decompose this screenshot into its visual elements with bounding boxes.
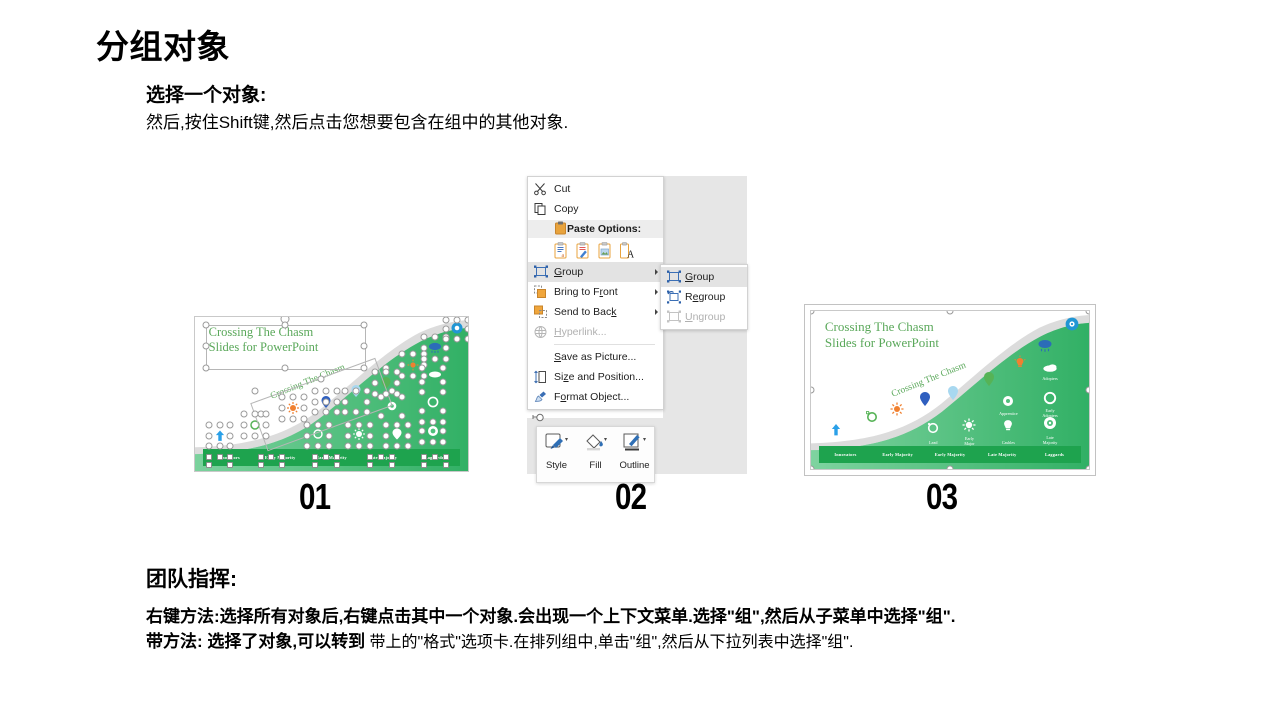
- gear-ring-white-icon: [1044, 391, 1057, 404]
- target-gear-white-icon: [427, 425, 438, 436]
- send-to-back-icon: [533, 305, 548, 320]
- outline-pen-icon: [622, 432, 648, 459]
- bulb-green-icon: [984, 372, 994, 386]
- paste-keep-source-formatting-button[interactable]: a: [553, 242, 568, 259]
- arrow-up-icon: [832, 424, 841, 436]
- context-menu[interactable]: Cut Copy Paste Options: a: [527, 176, 664, 410]
- menu-item-size-and-position[interactable]: Size and Position...: [528, 367, 663, 387]
- mini-toolbar-label: Style: [546, 460, 567, 471]
- step-number-01: 01: [299, 476, 330, 518]
- cloud-white-icon: [1043, 364, 1058, 372]
- icon-label: Early Adopters: [1042, 409, 1057, 419]
- section-body-team: 右键方法:选择所有对象后,右键点击其中一个对象.会出现一个上下文菜单.选择"组"…: [146, 604, 1106, 655]
- hyperlink-icon: [533, 325, 548, 340]
- submenu-item-label: Group: [685, 271, 714, 283]
- group-icon: [666, 270, 681, 285]
- step-2-screenshot: Cut Copy Paste Options: a: [527, 176, 747, 474]
- band-label: Early Majority: [924, 452, 976, 457]
- icon-label: Early Major: [964, 437, 974, 447]
- selection-box: [206, 325, 366, 370]
- shape-style-icon: [544, 432, 570, 459]
- icon-label: Late Majority: [1043, 436, 1058, 446]
- menu-item-group[interactable]: Group: [528, 262, 663, 282]
- step-1-thumbnail[interactable]: Crossing The Chasm Slides for PowerPoint…: [194, 316, 469, 472]
- step-number-03: 03: [926, 476, 957, 518]
- pin-navy-icon: [920, 392, 930, 406]
- sun-white-icon: [963, 418, 976, 431]
- band-label: Innovators: [819, 452, 871, 457]
- svg-text:A: A: [627, 249, 634, 259]
- menu-item-label: Copy: [554, 203, 579, 215]
- cyan-gear-icon: [1065, 317, 1079, 331]
- menu-item-label: Hyperlink...: [554, 326, 607, 338]
- menu-item-cut[interactable]: Cut: [528, 179, 663, 199]
- clipboard-icon: [554, 221, 567, 238]
- selection-handle[interactable]: [947, 466, 954, 471]
- menu-item-label: Size and Position...: [554, 371, 644, 383]
- step-number-02: 02: [615, 476, 646, 518]
- format-object-icon: [533, 390, 548, 405]
- menu-item-hyperlink: Hyperlink...: [528, 322, 663, 342]
- submenu-item-label: Ungroup: [685, 311, 725, 323]
- selection-handle[interactable]: [810, 466, 815, 471]
- menu-item-label: Save as Picture...: [554, 351, 636, 363]
- icon-label: Adopters: [1042, 377, 1057, 382]
- gear-green-icon: [866, 411, 878, 423]
- menu-item-save-as-picture[interactable]: Save as Picture...: [528, 347, 663, 367]
- mini-toolbar-fill-button[interactable]: Fill: [576, 432, 615, 471]
- selection-handle[interactable]: [1086, 310, 1091, 315]
- team-line-1: 右键方法:选择所有对象后,右键点击其中一个对象.会出现一个上下文菜单.选择"组"…: [146, 607, 956, 626]
- group-submenu[interactable]: Group Regroup Ungroup: [660, 264, 748, 330]
- mini-toolbar-label: Outline: [619, 460, 649, 471]
- stage-band: Innovators Early Majority Early Majority…: [819, 446, 1080, 463]
- arrow-up-icon: [215, 430, 224, 441]
- menu-item-send-to-back[interactable]: Send to Back: [528, 302, 663, 322]
- target-white-icon: [928, 422, 939, 433]
- deck-title-line2: Slides for PowerPoint: [825, 335, 939, 351]
- paste-options-label: Paste Options:: [567, 223, 641, 235]
- icon-label: Cashles: [1002, 441, 1015, 446]
- sun-icon-white: [353, 428, 365, 440]
- menu-item-format-object[interactable]: Format Object...: [528, 387, 663, 407]
- page-title: 分组对象: [96, 20, 230, 68]
- section-heading-select-object: 选择一个对象:: [146, 80, 266, 107]
- slide-preview-ungrouped: Crossing The Chasm Slides for PowerPoint…: [194, 316, 469, 472]
- cloud-rain-icon: [1037, 339, 1052, 352]
- bulb-icon-white: [393, 429, 402, 440]
- paste-use-destination-theme-button[interactable]: [575, 242, 590, 259]
- gear-white-icon: [1002, 395, 1014, 407]
- mini-toolbar-label: Fill: [589, 460, 601, 471]
- scissors-icon: [533, 182, 548, 197]
- section-heading-team: 团队指挥:: [146, 563, 237, 593]
- sun-orange-icon: [891, 402, 904, 415]
- chevron-right-icon: [655, 269, 658, 275]
- step-3-thumbnail[interactable]: Crossing The Chasm Slides for PowerPoint…: [810, 310, 1090, 470]
- regroup-icon: [666, 290, 681, 305]
- menu-item-copy[interactable]: Copy: [528, 199, 663, 219]
- selection-handle[interactable]: [1086, 387, 1091, 394]
- team-line-2-bold: 带方法: 选择了对象,可以转到: [146, 632, 365, 651]
- cloud-white-icon: [429, 370, 442, 377]
- deck-title: Crossing The Chasm Slides for PowerPoint: [825, 319, 939, 351]
- submenu-item-group[interactable]: Group: [661, 267, 747, 287]
- gear-ring-white-icon: [427, 396, 439, 408]
- submenu-item-label: Regroup: [685, 291, 725, 303]
- paste-keep-text-only-button[interactable]: A: [619, 242, 634, 259]
- mini-toolbar-style-button[interactable]: Style: [537, 432, 576, 471]
- bulb-orange-icon: [1014, 355, 1026, 368]
- chevron-right-icon: [655, 309, 658, 315]
- chevron-right-icon: [655, 289, 658, 295]
- slide-preview-grouped: Crossing The Chasm Slides for PowerPoint…: [810, 310, 1090, 470]
- menu-item-label: Send to Back: [554, 306, 616, 318]
- ungroup-icon: [666, 310, 681, 325]
- icon-label: Lead: [929, 441, 937, 446]
- menu-item-label: Group: [554, 266, 583, 278]
- mini-toolbar-outline-button[interactable]: Outline: [615, 432, 654, 471]
- size-position-icon: [533, 370, 548, 385]
- copy-icon: [533, 202, 548, 217]
- paste-options-header: Paste Options:: [528, 220, 663, 238]
- menu-item-bring-to-front[interactable]: Bring to Front: [528, 282, 663, 302]
- section-body-select-object: 然后,按住Shift键,然后点击您想要包含在组中的其他对象.: [146, 108, 568, 133]
- mini-toolbar[interactable]: Style Fill Outline: [536, 426, 655, 483]
- bulb-white-icon: [1003, 420, 1014, 433]
- rotate-handle-icon[interactable]: [532, 412, 550, 424]
- cloud-rain-icon: [429, 342, 442, 353]
- band-label: Early Majority: [872, 452, 924, 457]
- fill-bucket-icon: [583, 432, 609, 459]
- submenu-item-ungroup: Ungroup: [661, 307, 747, 327]
- paste-picture-button[interactable]: [597, 242, 612, 259]
- target-gear-white-icon: [1044, 417, 1057, 430]
- bring-to-front-icon: [533, 285, 548, 300]
- icon-label: Apprentice: [999, 412, 1018, 417]
- menu-item-label: Bring to Front: [554, 286, 618, 298]
- menu-item-label: Format Object...: [554, 391, 629, 403]
- deck-title-line1: Crossing The Chasm: [825, 319, 939, 335]
- svg-text:a: a: [562, 253, 565, 259]
- team-line-2-normal: 带上的"格式"选项卡.在排列组中,单击"组",然后从下拉列表中选择"组".: [365, 634, 853, 651]
- menu-separator: [554, 344, 655, 345]
- paste-options-buttons[interactable]: a A: [528, 238, 663, 262]
- band-label: Late Majority: [976, 452, 1028, 457]
- group-icon: [533, 265, 548, 280]
- band-label: Laggards: [1028, 452, 1080, 457]
- bulb-lightblue-icon: [948, 386, 958, 400]
- selection-handle[interactable]: [1086, 466, 1091, 471]
- menu-item-label: Cut: [554, 183, 570, 195]
- slide-canvas: 分组对象 选择一个对象: 然后,按住Shift键,然后点击您想要包含在组中的其他…: [0, 0, 1280, 720]
- submenu-item-regroup[interactable]: Regroup: [661, 287, 747, 307]
